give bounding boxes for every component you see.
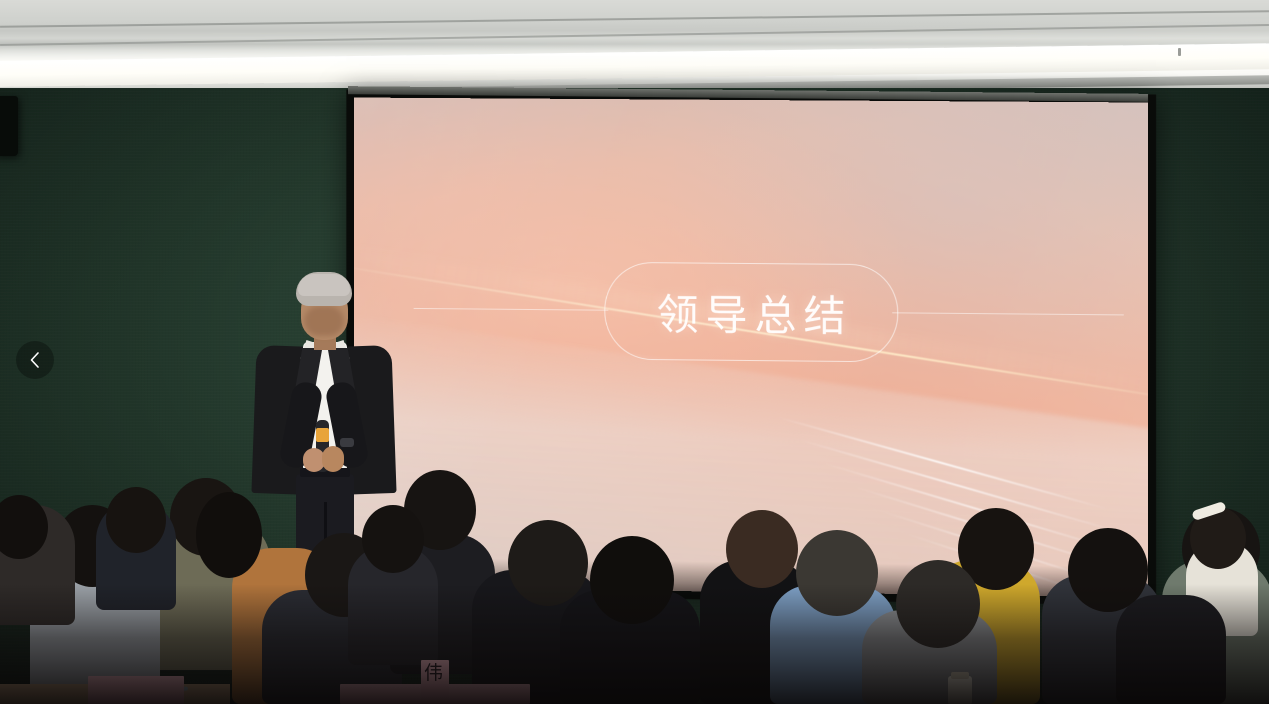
presenter-hair-highlight bbox=[298, 274, 350, 296]
presenter-face-shadow bbox=[304, 306, 344, 336]
presenter-watch bbox=[340, 438, 354, 447]
slide-title-pill: 领导总结 bbox=[604, 262, 898, 363]
slide-title: 领导总结 bbox=[650, 281, 853, 344]
wall-mounted-speaker bbox=[0, 96, 18, 156]
presenter-hand-right bbox=[322, 446, 344, 472]
audience-head bbox=[106, 487, 166, 553]
chevron-left-icon bbox=[28, 351, 42, 369]
audience-head bbox=[196, 492, 262, 578]
ceiling-seam bbox=[0, 10, 1269, 28]
audience-head bbox=[726, 510, 798, 588]
microphone-band bbox=[316, 428, 329, 442]
light-mount-pin bbox=[1178, 48, 1181, 56]
ceiling-seam bbox=[0, 24, 1269, 46]
photo-viewer: 领导总结 bbox=[0, 0, 1269, 704]
audience-head bbox=[362, 505, 424, 573]
previous-image-button[interactable] bbox=[16, 341, 54, 379]
foreground-shadow bbox=[0, 584, 1269, 704]
